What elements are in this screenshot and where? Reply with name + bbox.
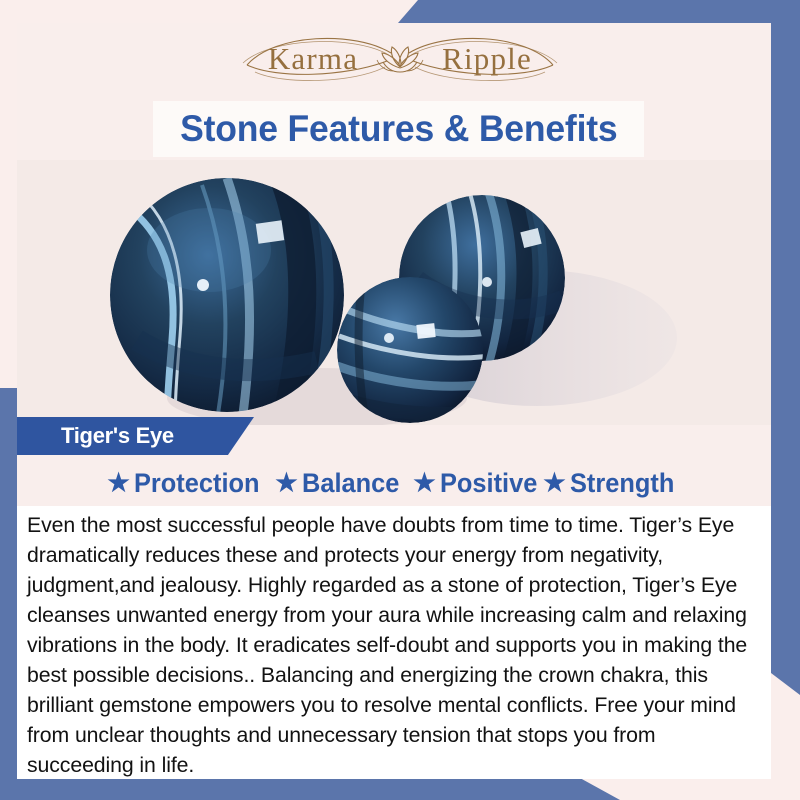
feature-list: ★ Protection ★ Balance ★ Positive ★ Stre… bbox=[17, 463, 771, 503]
page-title-banner: Stone Features & Benefits bbox=[153, 101, 644, 157]
lotus-icon bbox=[377, 47, 423, 72]
star-icon: ★ bbox=[413, 471, 435, 496]
stone-photo bbox=[17, 160, 771, 425]
brand-logo: Karma Ripple bbox=[0, 26, 800, 92]
feature-label: Protection bbox=[134, 468, 260, 499]
stone-name-tag: Tiger's Eye bbox=[17, 417, 254, 455]
decor-top-band bbox=[398, 0, 800, 23]
description-text: Even the most successful people have dou… bbox=[27, 510, 754, 780]
brand-name-right: Ripple bbox=[442, 41, 532, 76]
feature-item-2: ★ Positive bbox=[413, 468, 543, 499]
stone-photo-graphic bbox=[17, 160, 771, 425]
feature-label: Strength bbox=[570, 468, 674, 499]
feature-item-1: ★ Balance bbox=[275, 468, 405, 499]
feature-label: Balance bbox=[302, 468, 399, 499]
feature-item-0: ★ Protection bbox=[107, 468, 267, 499]
feature-item-3: ★ Strength bbox=[543, 468, 680, 499]
feature-label: Positive bbox=[440, 468, 537, 499]
decor-right-strip bbox=[771, 23, 800, 695]
decor-bottom-band bbox=[0, 778, 620, 800]
stone-name-label: Tiger's Eye bbox=[61, 423, 174, 449]
infographic-canvas: Karma Ripple Stone Features & Benefits bbox=[0, 0, 800, 800]
star-icon: ★ bbox=[107, 471, 129, 496]
page-title: Stone Features & Benefits bbox=[180, 108, 617, 150]
decor-left-strip bbox=[0, 388, 17, 792]
brand-logo-graphic: Karma Ripple bbox=[235, 27, 565, 91]
brand-name-left: Karma bbox=[268, 41, 358, 76]
description-panel: Even the most successful people have dou… bbox=[17, 506, 771, 779]
star-icon: ★ bbox=[275, 471, 297, 496]
star-icon: ★ bbox=[543, 471, 565, 496]
